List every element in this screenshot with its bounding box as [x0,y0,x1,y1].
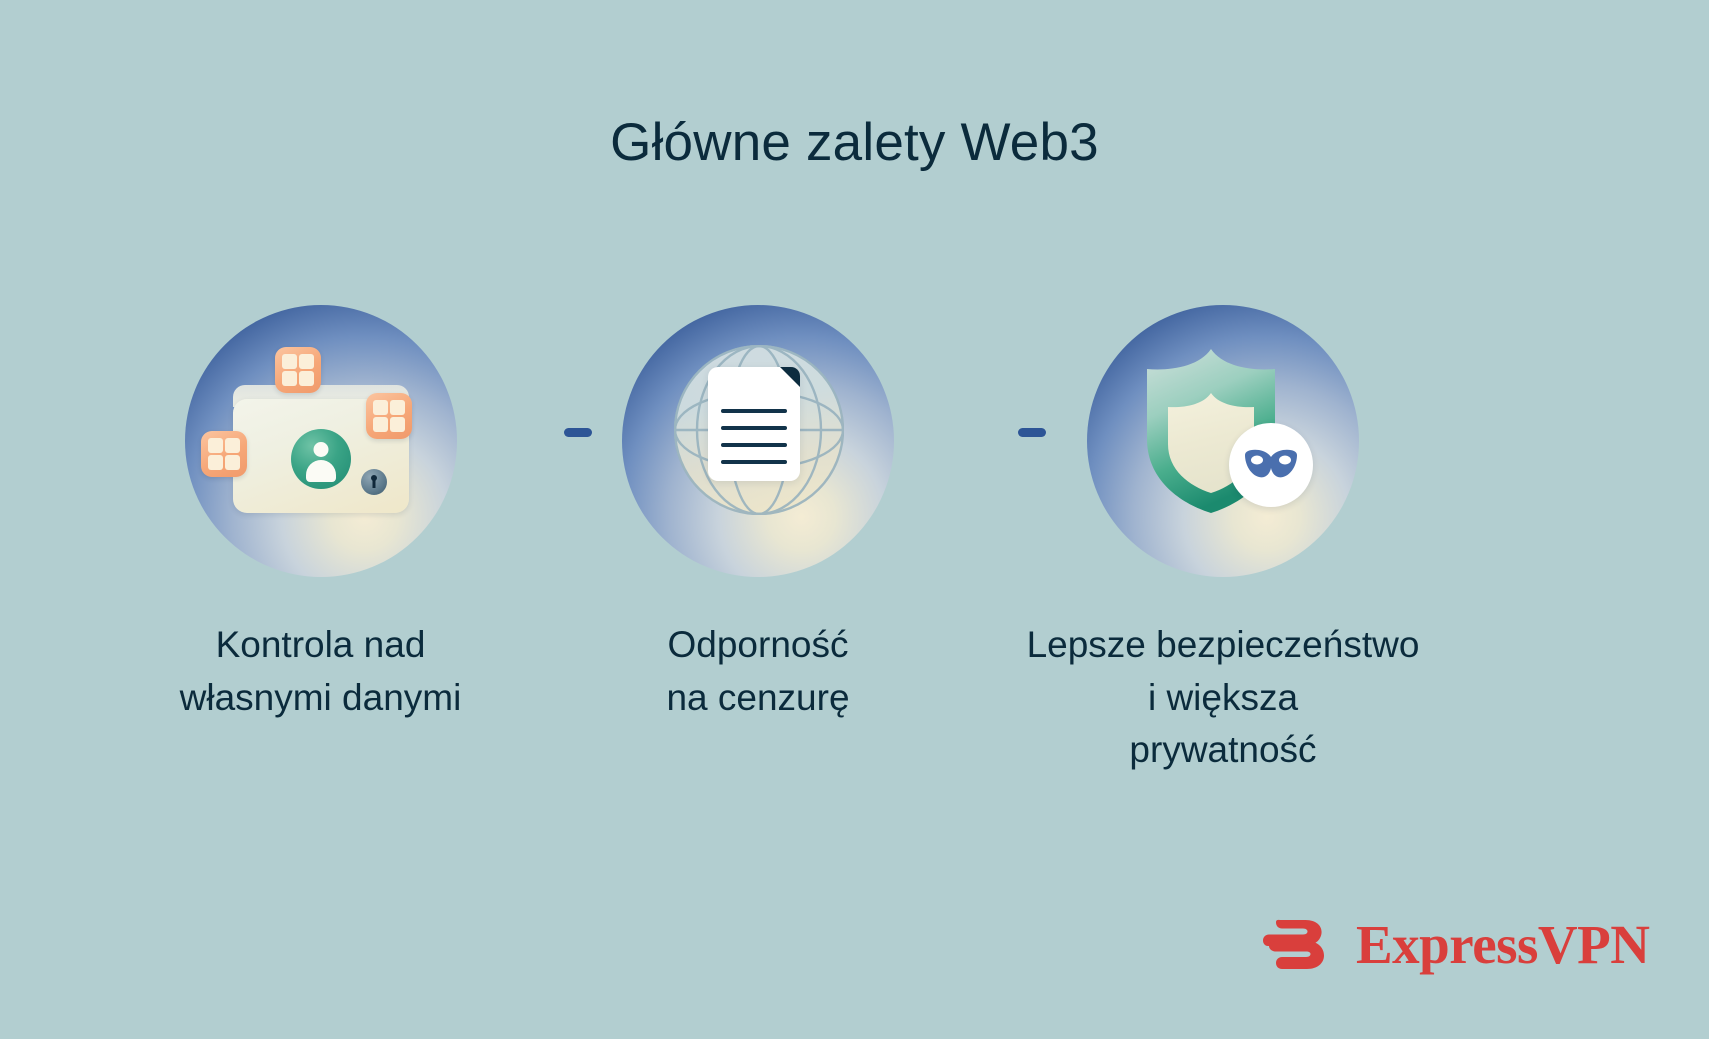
caption-line: prywatność [958,724,1488,777]
document-icon [708,367,800,481]
benefit-card-censorship-resistance: Odporność na cenzurę [613,305,903,724]
app-grid-tile-icon [275,347,321,393]
document-fold [780,367,800,387]
expressvpn-logo: ExpressVPN [1262,908,1649,980]
shield-mask-icon [1087,305,1359,577]
benefit-caption: Lepsze bezpieczeństwo i większa prywatno… [958,619,1488,777]
separator-dash [1018,428,1046,437]
caption-line: Lepsze bezpieczeństwo [958,619,1488,672]
benefits-row: Kontrola nad własnymi danymi [0,305,1709,825]
expressvpn-logo-mark [1262,908,1334,980]
benefit-card-data-control: Kontrola nad własnymi danymi [123,305,518,724]
caption-line: na cenzurę [613,672,903,725]
infographic-canvas: Główne zalety Web3 Kontrola nad [0,0,1709,1039]
caption-line: i większa [958,672,1488,725]
globe-document-icon [622,305,894,577]
benefit-card-security-privacy: Lepsze bezpieczeństwo i większa prywatno… [958,305,1488,777]
caption-line: Kontrola nad [123,619,518,672]
page-title: Główne zalety Web3 [0,114,1709,172]
mask-badge-icon [1229,423,1313,507]
caption-line: własnymi danymi [123,672,518,725]
separator-dash [564,428,592,437]
carnival-mask-icon [1243,449,1299,481]
data-control-card-icon [185,305,457,577]
user-avatar-icon [291,429,351,489]
caption-line: Odporność [613,619,903,672]
app-grid-tile-icon [366,393,412,439]
benefit-caption: Odporność na cenzurę [613,619,903,724]
keyhole-lock-icon [361,469,387,495]
app-grid-tile-icon [201,431,247,477]
expressvpn-wordmark: ExpressVPN [1356,917,1649,972]
benefit-caption: Kontrola nad własnymi danymi [123,619,518,724]
